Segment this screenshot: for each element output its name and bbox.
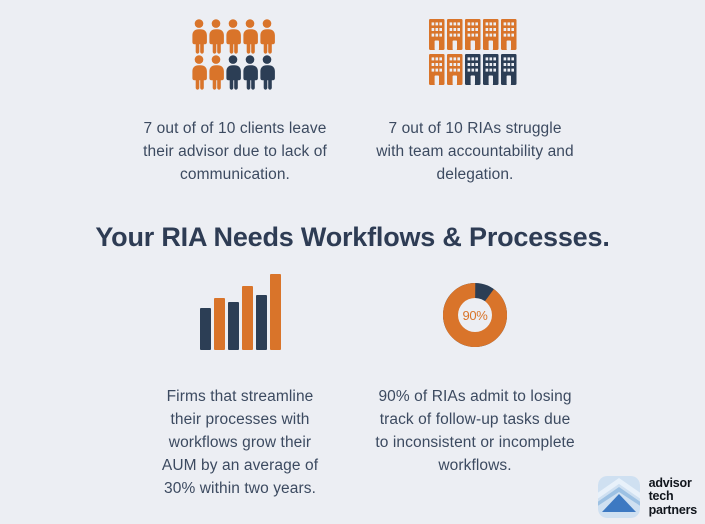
infographic-canvas: 7 out of of 10 clients leave their advis… [0, 0, 705, 524]
advisor-tech-partners-logo[interactable]: advisor tech partners [598, 476, 697, 518]
panel-aum-growth: Firms that streamline their processes wi… [125, 280, 355, 500]
bar-2 [214, 298, 225, 350]
page-title: Your RIA Needs Workflows & Processes. [0, 222, 705, 253]
panel-caption: 90% of RIAs admit to losing track of fol… [375, 385, 575, 477]
panel-rias-accountability: 7 out of 10 RIAs struggle with team acco… [360, 18, 590, 186]
logo-line-1: advisor [649, 477, 697, 491]
bar-3 [228, 302, 239, 350]
bar-chart [200, 280, 281, 350]
panel-caption: Firms that streamline their processes wi… [150, 385, 330, 500]
office-buildings-icon [429, 18, 521, 90]
logo-line-3: partners [649, 504, 697, 518]
logo-line-2: tech [649, 490, 697, 504]
bar-4 [242, 286, 253, 350]
bar-1 [200, 308, 211, 350]
donut-center-label: 90% [458, 298, 492, 332]
chevron-mountain-icon [598, 476, 640, 518]
panel-caption: 7 out of of 10 clients leave their advis… [133, 117, 338, 186]
panel-follow-up-tasks: 90% 90% of RIAs admit to losing track of… [360, 280, 590, 477]
donut-chart-icon: 90% [443, 280, 507, 350]
panel-clients-communication: 7 out of of 10 clients leave their advis… [120, 18, 350, 186]
bar-5 [256, 295, 267, 350]
people-group-icon [190, 18, 280, 90]
panel-caption: 7 out of 10 RIAs struggle with team acco… [373, 117, 578, 186]
logo-wordmark: advisor tech partners [649, 477, 697, 518]
bar-6 [270, 274, 281, 350]
bar-chart-icon [200, 280, 281, 350]
donut-chart: 90% [443, 283, 507, 347]
